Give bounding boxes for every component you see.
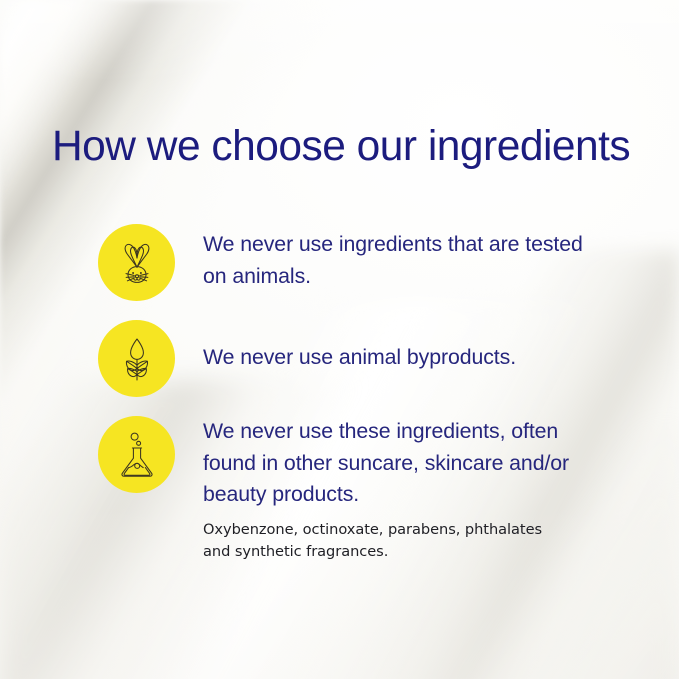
claims-list: We never use ingredients that are tested… — [98, 224, 638, 563]
claim-text: We never use ingredients that are tested… — [203, 229, 598, 292]
claim-text-block-byproducts: We never use animal byproducts. — [175, 320, 638, 374]
list-item-animal-testing: We never use ingredients that are tested… — [98, 224, 638, 301]
claim-text: We never use these ingredients, often fo… — [203, 416, 603, 511]
badge-animal-testing — [98, 224, 175, 301]
claim-note: Oxybenzone, octinoxate, parabens, phthal… — [203, 519, 563, 563]
list-item-byproducts: We never use animal byproducts. — [98, 320, 638, 397]
bunny-heart-ears-icon — [111, 237, 163, 289]
plant-sprig-icon — [112, 334, 162, 384]
list-item-ingredients: We never use these ingredients, often fo… — [98, 416, 638, 563]
badge-ingredients — [98, 416, 175, 493]
page-title: How we choose our ingredients — [52, 123, 630, 171]
badge-byproducts — [98, 320, 175, 397]
ingredients-infographic: How we choose our ingredients — [0, 0, 679, 679]
claim-text-block-animal-testing: We never use ingredients that are tested… — [175, 224, 638, 292]
content-area: How we choose our ingredients — [0, 0, 679, 679]
erlenmeyer-flask-icon — [112, 430, 162, 480]
claim-text-block-ingredients: We never use these ingredients, often fo… — [175, 416, 638, 563]
claim-text: We never use animal byproducts. — [203, 342, 598, 374]
